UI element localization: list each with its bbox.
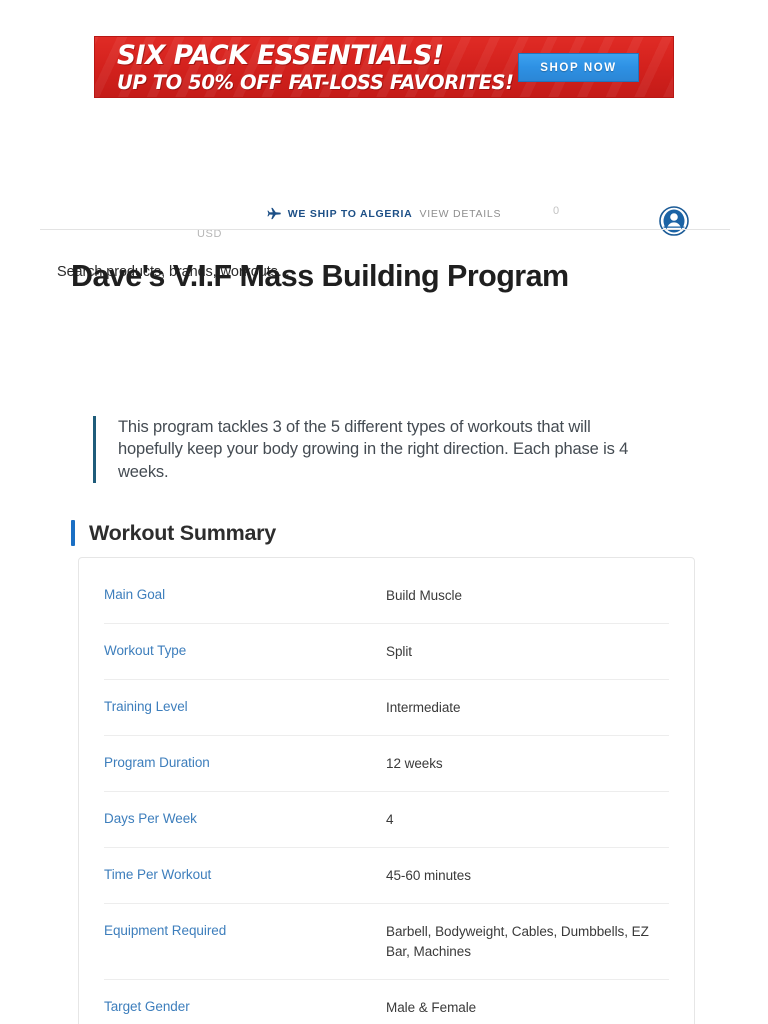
shop-now-button[interactable]: SHOP NOW: [518, 53, 639, 82]
table-row: Equipment RequiredBarbell, Bodyweight, C…: [104, 904, 669, 980]
workout-summary-heading: Workout Summary: [71, 520, 276, 546]
airplane-icon: [267, 207, 281, 221]
table-row: Target GenderMale & Female: [104, 980, 669, 1024]
summary-row-value: 12 weeks: [386, 754, 669, 774]
summary-row-label[interactable]: Program Duration: [104, 754, 386, 772]
promo-subheadline: UP TO 50% OFF FAT-LOSS FAVORITES!: [117, 71, 537, 94]
summary-row-value: Barbell, Bodyweight, Cables, Dumbbells, …: [386, 922, 669, 962]
table-row: Days Per Week4: [104, 792, 669, 848]
summary-row-label[interactable]: Training Level: [104, 698, 386, 716]
summary-row-label[interactable]: Main Goal: [104, 586, 386, 604]
shipping-destination-label: WE SHIP TO ALGERIA: [288, 208, 413, 220]
table-row: Main GoalBuild Muscle: [104, 558, 669, 624]
summary-row-label[interactable]: Target Gender: [104, 998, 386, 1016]
table-row: Program Duration12 weeks: [104, 736, 669, 792]
summary-row-label[interactable]: Days Per Week: [104, 810, 386, 828]
summary-row-value: Intermediate: [386, 698, 669, 718]
summary-row-value: 45-60 minutes: [386, 866, 669, 886]
table-row: Workout TypeSplit: [104, 624, 669, 680]
view-details-link[interactable]: VIEW DETAILS: [419, 208, 501, 220]
promo-headline: SIX PACK ESSENTIALS!: [117, 41, 537, 71]
shipping-notice-bar: WE SHIP TO ALGERIA VIEW DETAILS: [0, 200, 768, 228]
summary-row-label[interactable]: Equipment Required: [104, 922, 386, 940]
program-intro-text: This program tackles 3 of the 5 differen…: [118, 416, 658, 483]
summary-row-value: 4: [386, 810, 669, 830]
site-header: USD 0 Search products, brands, workouts.…: [0, 98, 768, 198]
summary-row-value: Build Muscle: [386, 586, 669, 606]
table-row: Training LevelIntermediate: [104, 680, 669, 736]
summary-row-label[interactable]: Time Per Workout: [104, 866, 386, 884]
summary-row-label[interactable]: Workout Type: [104, 642, 386, 660]
promo-banner[interactable]: SIX PACK ESSENTIALS! UP TO 50% OFF FAT-L…: [94, 36, 674, 98]
page-title: Dave's V.I.F Mass Building Program: [71, 257, 569, 295]
header-divider: [40, 229, 730, 230]
summary-row-value: Split: [386, 642, 669, 662]
program-intro-blockquote: This program tackles 3 of the 5 differen…: [93, 416, 658, 483]
workout-summary-card: Main GoalBuild MuscleWorkout TypeSplitTr…: [78, 557, 695, 1024]
section-title: Workout Summary: [75, 521, 276, 546]
shipping-notice[interactable]: WE SHIP TO ALGERIA VIEW DETAILS: [267, 207, 501, 221]
summary-row-value: Male & Female: [386, 998, 669, 1018]
table-row: Time Per Workout45-60 minutes: [104, 848, 669, 904]
promo-text-group: SIX PACK ESSENTIALS! UP TO 50% OFF FAT-L…: [117, 41, 537, 94]
page-root: SIX PACK ESSENTIALS! UP TO 50% OFF FAT-L…: [0, 0, 768, 1024]
promo-banner-container: SIX PACK ESSENTIALS! UP TO 50% OFF FAT-L…: [94, 36, 674, 98]
